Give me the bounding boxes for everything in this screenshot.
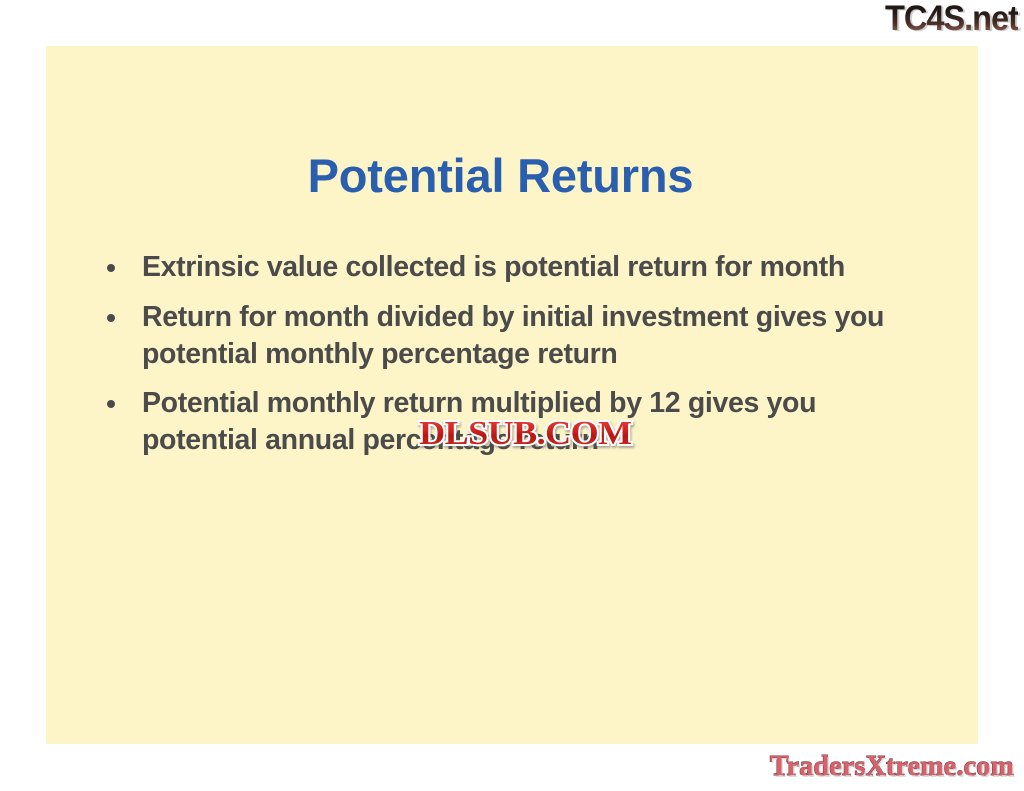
page-title: Potential Returns xyxy=(46,151,978,200)
tc4s-net-logo: TC4S.net xyxy=(885,0,1018,38)
tradersxtreme-com-watermark: TradersXtreme.com xyxy=(770,751,1014,783)
bullet-dot-icon xyxy=(107,264,115,272)
list-item: Return for month divided by initial inve… xyxy=(98,299,958,373)
dlsub-com-watermark: DLSUB.COM xyxy=(417,416,634,452)
bullet-dot-icon xyxy=(107,314,115,322)
list-item-text: Return for month divided by initial inve… xyxy=(142,299,937,373)
bullet-dot-icon xyxy=(107,400,115,408)
list-item-text: Extrinsic value collected is potential r… xyxy=(142,249,937,286)
slide-panel: Potential Returns Extrinsic value collec… xyxy=(46,46,978,744)
list-item: Extrinsic value collected is potential r… xyxy=(98,249,958,286)
